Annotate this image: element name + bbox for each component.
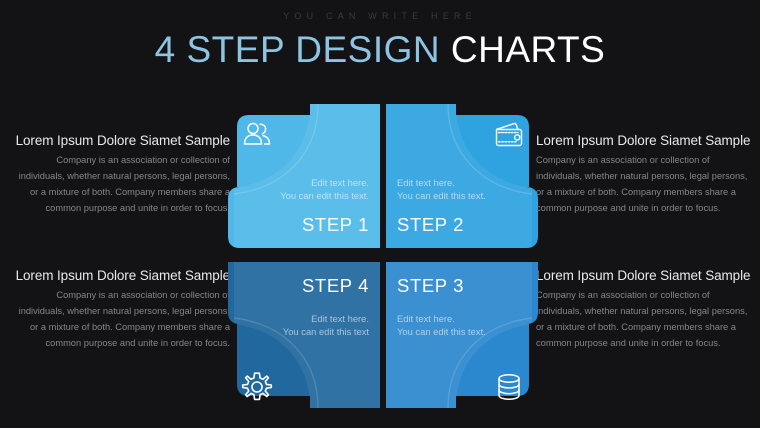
page-title: 4 STEP DESIGN CHARTS (0, 31, 760, 70)
side-text-title: Lorem Ipsum Dolore Siamet Sample (8, 133, 230, 148)
step-card-1[interactable]: Edit text here.You can edit this text. S… (228, 104, 380, 256)
wallet-icon (492, 118, 526, 152)
page-title-plain-text: CHARTS (451, 29, 605, 70)
side-text-body: Company is an association or collection … (536, 153, 758, 217)
step-card-3-edit-text: Edit text here.You can edit this text. (397, 312, 486, 339)
side-text-block-top-left: Lorem Ipsum Dolore Siamet Sample Company… (8, 133, 230, 217)
step-card-4-edit-text: Edit text here.You can edit this text (283, 312, 369, 339)
side-text-title: Lorem Ipsum Dolore Siamet Sample (536, 133, 758, 148)
side-text-block-top-right: Lorem Ipsum Dolore Siamet Sample Company… (536, 133, 758, 217)
side-text-body: Company is an association or collection … (8, 153, 230, 217)
page-title-accent: 4 STEP DESIGN (155, 29, 440, 70)
side-text-block-bottom-left: Lorem Ipsum Dolore Siamet Sample Company… (8, 268, 230, 352)
step-card-4-label: STEP 4 (302, 275, 369, 297)
step-card-4[interactable]: STEP 4 Edit text here.You can edit this … (228, 262, 380, 414)
side-text-title: Lorem Ipsum Dolore Siamet Sample (8, 268, 230, 283)
slide-header: YOU CAN WRITE HERE 4 STEP DESIGN CHARTS (0, 0, 760, 70)
four-step-diagram: Edit text here.You can edit this text. S… (228, 104, 538, 419)
gear-icon (240, 370, 274, 404)
side-text-body: Company is an association or collection … (536, 288, 758, 352)
step-card-2[interactable]: Edit text here.You can edit this text. S… (386, 104, 538, 256)
step-card-1-edit-text: Edit text here.You can edit this text. (280, 176, 369, 203)
page-title-plain (440, 29, 451, 70)
step-card-1-label: STEP 1 (302, 214, 369, 236)
step-card-2-label: STEP 2 (397, 214, 464, 236)
step-card-2-edit-text: Edit text here.You can edit this text. (397, 176, 486, 203)
users-icon (240, 118, 274, 152)
database-icon (492, 370, 526, 404)
side-text-block-bottom-right: Lorem Ipsum Dolore Siamet Sample Company… (536, 268, 758, 352)
step-card-3[interactable]: STEP 3 Edit text here.You can edit this … (386, 262, 538, 414)
side-text-title: Lorem Ipsum Dolore Siamet Sample (536, 268, 758, 283)
step-card-3-label: STEP 3 (397, 275, 464, 297)
eyebrow-text: YOU CAN WRITE HERE (0, 11, 760, 21)
side-text-body: Company is an association or collection … (8, 288, 230, 352)
